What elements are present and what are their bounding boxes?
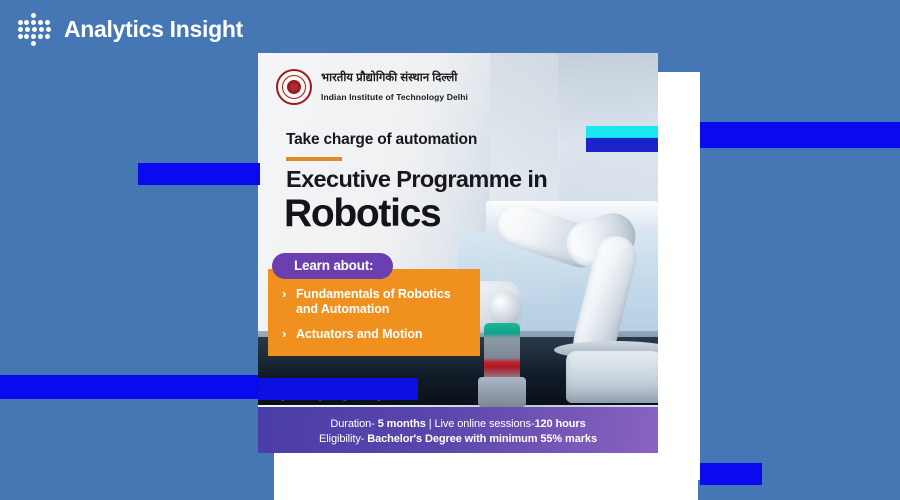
decor-glitch-bar-cyan [586, 126, 658, 152]
learn-about-body: Fundamentals of Robotics and Automation … [268, 269, 480, 356]
learn-about-list: Fundamentals of Robotics and Automation … [282, 287, 466, 342]
learn-about-block: Learn about: Fundamentals of Robotics an… [268, 253, 480, 356]
robot-joint [488, 291, 522, 325]
eligibility-value: Bachelor's Degree with minimum 55% marks [367, 433, 597, 445]
footer-duration-line: Duration- 5 months | Live online session… [330, 418, 585, 430]
white-panel-right [658, 72, 700, 480]
institute-name-english: Indian Institute of Technology Delhi [321, 92, 468, 102]
poster-kicker: Take charge of automation [286, 131, 477, 149]
programme-poster-card: भारतीय प्रौद्योगिकी संस्थान दिल्ली India… [258, 53, 658, 453]
brand-name: Analytics Insight [64, 16, 243, 43]
orange-divider-rule [286, 157, 342, 161]
footer-separator: | [429, 418, 432, 430]
duration-value: 5 months [378, 418, 426, 430]
eligibility-label: Eligibility- [319, 433, 364, 445]
white-panel-bottom [274, 448, 698, 500]
dot-grid-diamond-logo-icon [18, 12, 52, 46]
decor-bar-left-bottom [0, 375, 258, 399]
decor-bar-right-bottom [700, 463, 762, 485]
decor-bar-right-top [700, 122, 900, 148]
poster-footer: Duration- 5 months | Live online session… [258, 407, 658, 453]
list-item: Fundamentals of Robotics and Automation [282, 287, 466, 318]
robot-base [566, 351, 658, 403]
footer-eligibility-line: Eligibility- Bachelor's Degree with mini… [319, 433, 597, 445]
robot-gripper [478, 377, 526, 407]
duration-label: Duration- [330, 418, 374, 430]
sessions-label: Live online sessions- [435, 418, 535, 430]
decor-bar-left-top [138, 163, 260, 185]
iit-delhi-emblem-icon [276, 69, 312, 105]
poster-title-line1: Executive Programme in [286, 166, 547, 193]
decor-glitch-bar-card [258, 378, 418, 400]
sessions-value: 120 hours [535, 418, 586, 430]
learn-about-badge: Learn about: [272, 253, 393, 279]
brand-header: Analytics Insight [18, 12, 243, 46]
institute-header: भारतीय प्रौद्योगिकी संस्थान दिल्ली India… [276, 68, 468, 106]
list-item: Actuators and Motion [282, 327, 466, 342]
poster-title-line2: Robotics [284, 192, 440, 236]
institute-name-hindi: भारतीय प्रौद्योगिकी संस्थान दिल्ली [321, 72, 457, 84]
robot-end-effector [484, 323, 520, 381]
